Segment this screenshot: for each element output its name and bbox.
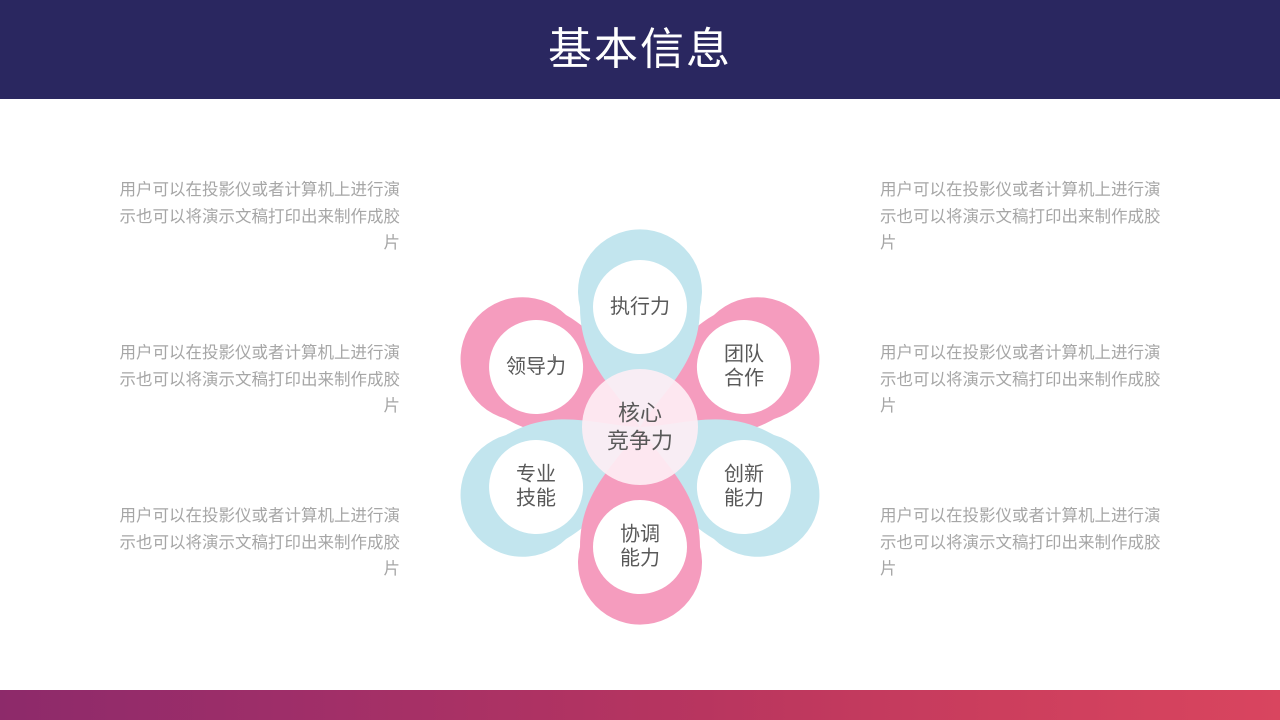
slide-body: 用户可以在投影仪或者计算机上进行演示也可以将演示文稿打印出来制作成胶片 用户可以…: [0, 99, 1280, 690]
text-caret-artifact: [553, 354, 554, 363]
petal-cycle-diagram: 执行力 团队 合作 创新 能力 协调 能力 专业 技能 领导力 核心 竞争力: [440, 174, 840, 629]
list-item: 用户可以在投影仪或者计算机上进行演示也可以将演示文稿打印出来制作成胶片: [110, 177, 400, 257]
slide-header: 基本信息: [0, 0, 1280, 99]
list-item: 用户可以在投影仪或者计算机上进行演示也可以将演示文稿打印出来制作成胶片: [880, 503, 1170, 583]
list-item: 用户可以在投影仪或者计算机上进行演示也可以将演示文稿打印出来制作成胶片: [110, 340, 400, 420]
list-item: 用户可以在投影仪或者计算机上进行演示也可以将演示文稿打印出来制作成胶片: [880, 340, 1170, 420]
list-item: 用户可以在投影仪或者计算机上进行演示也可以将演示文稿打印出来制作成胶片: [880, 177, 1170, 257]
list-item: 用户可以在投影仪或者计算机上进行演示也可以将演示文稿打印出来制作成胶片: [110, 503, 400, 583]
diagram-center-hub[interactable]: [582, 369, 698, 485]
petal-diagram-svg: [440, 174, 840, 629]
page-title: 基本信息: [548, 28, 732, 72]
footer-accent-bar: [0, 690, 1280, 720]
